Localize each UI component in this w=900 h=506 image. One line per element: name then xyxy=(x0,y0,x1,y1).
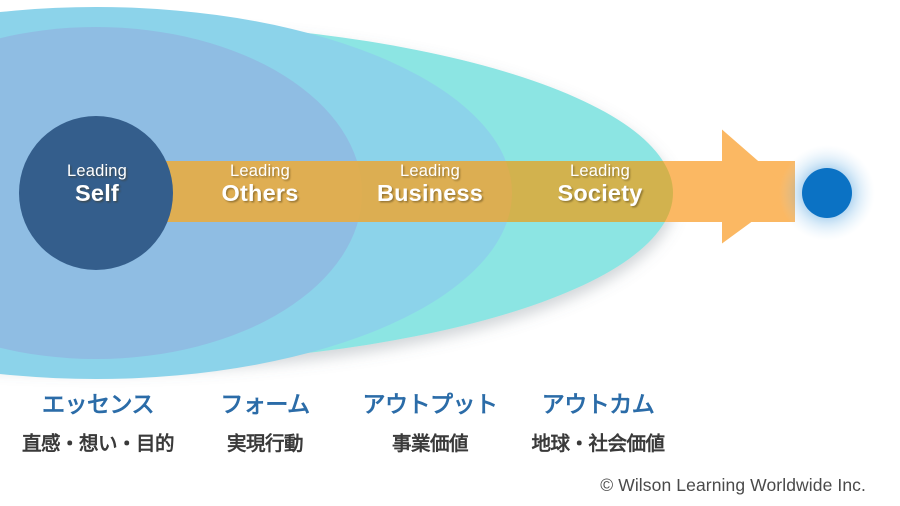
stage-title: アウトカム xyxy=(508,385,688,419)
stage-subtitle: 実現行動 xyxy=(185,427,345,456)
diagram-canvas: Leading Self Leading Others Leading Busi… xyxy=(0,0,900,506)
stage-title: フォーム xyxy=(185,385,345,419)
stage-subtitle: 事業価値 xyxy=(340,427,520,456)
stage-title: エッセンス xyxy=(8,385,188,419)
stage-label-essence: エッセンス 直感・想い・目的 xyxy=(8,385,188,456)
stage-label-outcome: アウトカム 地球・社会価値 xyxy=(508,385,688,456)
stage-subtitle: 地球・社会価値 xyxy=(508,427,688,456)
stage-label-output: アウトプット 事業価値 xyxy=(340,385,520,456)
stage-subtitle: 直感・想い・目的 xyxy=(8,427,188,456)
stage-label-form: フォーム 実現行動 xyxy=(185,385,345,456)
copyright-notice: © Wilson Learning Worldwide Inc. xyxy=(600,475,866,496)
core-circle-leading-self xyxy=(19,116,173,270)
goal-dot-icon xyxy=(779,145,875,241)
stage-title: アウトプット xyxy=(340,385,520,419)
